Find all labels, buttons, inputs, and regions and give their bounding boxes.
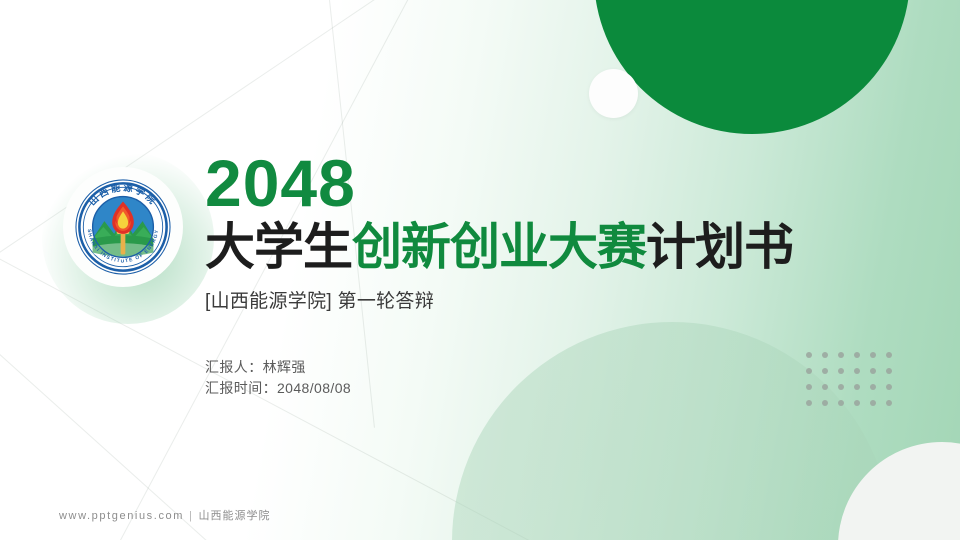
grid-dot	[870, 400, 876, 406]
large-white-circle-decoration	[838, 442, 960, 540]
footer-organization: 山西能源学院	[199, 510, 271, 522]
page-title: 大学生创新创业大赛计划书	[205, 218, 845, 276]
date-line: 汇报时间：2048/08/08	[205, 378, 845, 399]
grid-dot	[854, 368, 860, 374]
title-part-1: 大学生	[205, 219, 352, 275]
grid-dot	[870, 352, 876, 358]
title-slide: 山西能源学院 SHANXI INSTITUTE OF ENERGY 2048 大…	[0, 0, 960, 540]
small-white-circle-decoration	[589, 69, 638, 118]
grid-dot	[806, 400, 812, 406]
presentation-meta: 汇报人：林辉强 汇报时间：2048/08/08	[205, 357, 845, 399]
footer-separator: |	[189, 510, 193, 522]
green-circle-decoration	[594, 0, 910, 134]
grid-dot	[854, 384, 860, 390]
title-part-2-accent: 创新创业大赛	[352, 219, 646, 275]
grid-dot	[870, 368, 876, 374]
footer-website: www.pptgenius.com	[59, 510, 184, 522]
grid-dot	[886, 400, 892, 406]
grid-dot	[886, 384, 892, 390]
page-subtitle: [山西能源学院] 第一轮答辩	[205, 289, 845, 315]
footer: www.pptgenius.com|山西能源学院	[59, 509, 271, 524]
grid-dot	[854, 400, 860, 406]
grid-dot	[870, 384, 876, 390]
grid-dot	[886, 368, 892, 374]
university-logo: 山西能源学院 SHANXI INSTITUTE OF ENERGY	[74, 178, 172, 276]
title-content: 2048 大学生创新创业大赛计划书 [山西能源学院] 第一轮答辩 汇报人：林辉强…	[205, 150, 845, 399]
grid-dot	[838, 400, 844, 406]
year-number: 2048	[205, 150, 845, 216]
grid-dot	[854, 352, 860, 358]
presenter-line: 汇报人：林辉强	[205, 357, 845, 378]
title-part-3: 计划书	[646, 219, 793, 275]
grid-dot	[822, 400, 828, 406]
grid-dot	[886, 352, 892, 358]
